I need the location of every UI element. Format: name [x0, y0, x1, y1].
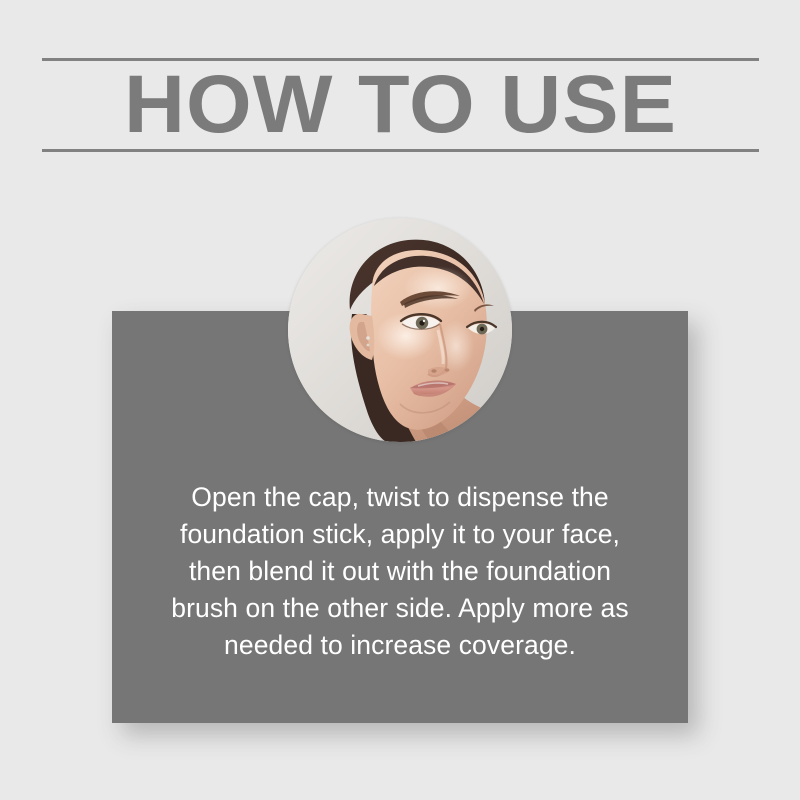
instruction-line: then blend it out with the foundation — [160, 553, 640, 590]
title-row: HOW TO USE — [42, 61, 759, 149]
page-title: HOW TO USE — [124, 64, 677, 146]
instruction-text: Open the cap, twist to dispense the foun… — [160, 479, 640, 664]
instruction-line: needed to increase coverage. — [160, 627, 640, 664]
how-to-use-graphic: HOW TO USE Open the cap, twist to dispen… — [0, 0, 800, 800]
instruction-line: brush on the other side. Apply more as — [160, 590, 640, 627]
header-block: HOW TO USE — [42, 58, 759, 152]
instruction-line: foundation stick, apply it to your face, — [160, 516, 640, 553]
model-face-portrait — [288, 218, 512, 442]
instruction-line: Open the cap, twist to dispense the — [160, 479, 640, 516]
